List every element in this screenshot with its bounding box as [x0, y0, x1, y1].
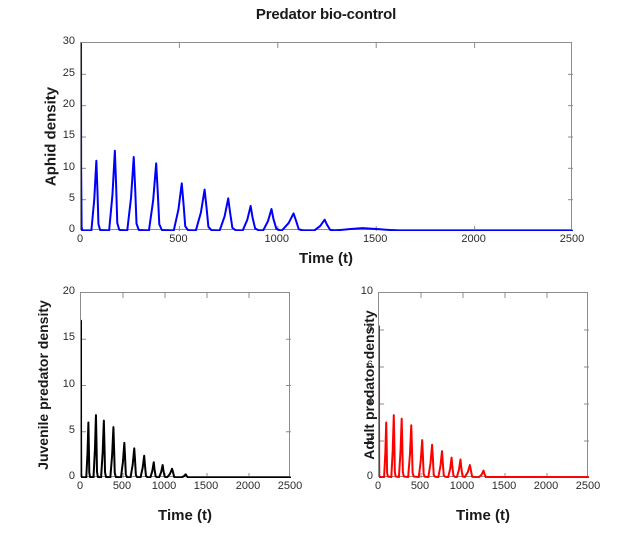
- figure-title: Predator bio-control: [80, 6, 572, 23]
- adult-xtick-label: 2500: [558, 480, 618, 492]
- panel-aphid-density: Predator bio-control Aphid density Time …: [0, 0, 632, 272]
- aphid-ytick-label: 25: [41, 67, 75, 79]
- adult-data-line: [379, 326, 589, 477]
- aphid-ytick-label: 5: [41, 192, 75, 204]
- adult-ytick-label: 4: [339, 396, 373, 408]
- aphid-xtick-label: 1000: [247, 233, 307, 245]
- aphid-x-axis-label: Time (t): [80, 250, 572, 267]
- adult-plot-area: [378, 292, 588, 477]
- figure-canvas: Predator bio-control Aphid density Time …: [0, 0, 632, 545]
- adult-ytick-label: 2: [339, 433, 373, 445]
- panel-juvenile-predator-density: Juvenile predator density Time (t) 05001…: [0, 272, 316, 545]
- adult-ytick-label: 10: [339, 285, 373, 297]
- panel-adult-predator-density: Adult predator density Time (t) 05001000…: [316, 272, 632, 545]
- juvenile-series-svg: [81, 293, 291, 478]
- aphid-data-line: [81, 43, 573, 231]
- aphid-xtick-label: 2000: [444, 233, 504, 245]
- aphid-xtick-label: 1500: [345, 233, 405, 245]
- aphid-ytick-label: 15: [41, 129, 75, 141]
- aphid-xtick-label: 500: [148, 233, 208, 245]
- adult-x-axis-label: Time (t): [378, 507, 588, 524]
- juvenile-plot-area: [80, 292, 290, 477]
- adult-series-svg: [379, 293, 589, 478]
- aphid-ytick-label: 30: [41, 35, 75, 47]
- aphid-series-svg: [81, 43, 573, 231]
- adult-ytick-label: 8: [339, 322, 373, 334]
- juvenile-ytick-label: 0: [41, 470, 75, 482]
- juvenile-ytick-label: 5: [41, 424, 75, 436]
- juvenile-data-line: [81, 321, 291, 478]
- adult-y-axis-label: Adult predator density: [361, 285, 377, 485]
- juvenile-ytick-label: 20: [41, 285, 75, 297]
- aphid-ytick-label: 0: [41, 223, 75, 235]
- juvenile-xtick-label: 2500: [260, 480, 320, 492]
- adult-ytick-label: 6: [339, 359, 373, 371]
- aphid-ytick-label: 10: [41, 161, 75, 173]
- juvenile-ytick-label: 15: [41, 331, 75, 343]
- aphid-plot-area: [80, 42, 572, 230]
- aphid-xtick-label: 2500: [542, 233, 602, 245]
- juvenile-x-axis-label: Time (t): [80, 507, 290, 524]
- aphid-ytick-label: 20: [41, 98, 75, 110]
- adult-ytick-label: 0: [339, 470, 373, 482]
- juvenile-ytick-label: 10: [41, 378, 75, 390]
